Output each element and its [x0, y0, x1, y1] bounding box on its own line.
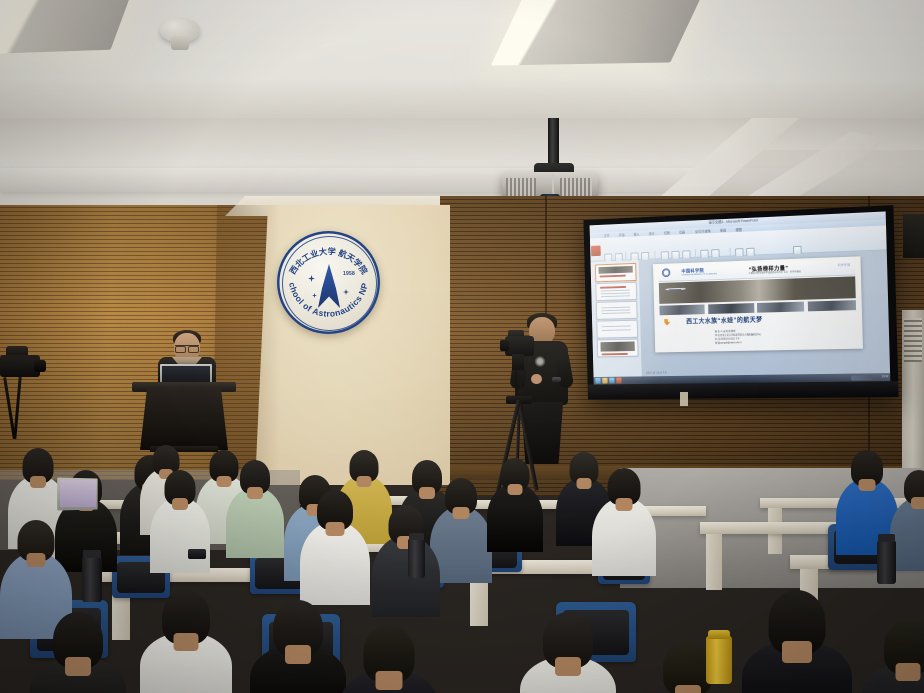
projection-screen-surface[interactable]: 演示文稿1 - Microsoft PowerPoint 文件 开始 插入 设计…	[590, 211, 891, 384]
emblem-year: 1958	[343, 271, 355, 277]
audience-laptop-screen[interactable]	[60, 480, 96, 507]
person-neck	[376, 671, 403, 690]
cameraman-shirt-graphic	[534, 356, 546, 367]
thumbnail-text-line	[602, 307, 631, 309]
person-neck	[285, 645, 311, 664]
audience-member	[862, 620, 924, 693]
strip-photo	[757, 301, 804, 312]
person-neck	[675, 685, 701, 693]
person-neck	[326, 522, 345, 536]
tumbler-bottle[interactable]	[82, 556, 102, 602]
ac-vent-icon	[904, 318, 922, 362]
slide-thumbnail[interactable]	[597, 339, 638, 358]
slide-thumbnail[interactable]	[596, 320, 637, 339]
wristwatch-icon	[552, 377, 561, 382]
audience-member	[250, 600, 346, 693]
slide-meta-email: 邮 箱:gongda@nwpu.edu.cn	[715, 341, 761, 346]
person-neck	[911, 497, 924, 509]
camera-center-tripod	[505, 336, 534, 356]
audience-member	[592, 468, 656, 596]
camera-lens	[500, 340, 509, 351]
person-neck	[508, 484, 523, 495]
projector-pole	[548, 118, 559, 168]
thumbnail-text-line	[602, 326, 631, 328]
ppt-icon[interactable]	[616, 378, 621, 383]
taskbar-clock[interactable]: 15:42	[882, 375, 888, 378]
slide-thumbnail[interactable]	[596, 301, 637, 320]
tumbler-cap	[409, 533, 424, 540]
yellow-bottle[interactable]	[706, 636, 732, 684]
slide-thumbnail[interactable]	[595, 263, 636, 282]
banner-badge-icon	[665, 288, 686, 291]
school-of-astronautics-emblem: 西北工业大学 航天学院 School of Astronautics NPU 1…	[277, 231, 380, 334]
audience-member	[340, 625, 438, 693]
thumbnail-title-bar	[602, 353, 628, 355]
person-neck	[616, 498, 633, 511]
thumbnail-image	[600, 342, 635, 352]
slide-slogan-sub: 中国科学院学部科学道德建设委员会 主办 · 科学传播局	[749, 271, 801, 276]
ppt-app-icon[interactable]	[591, 246, 601, 257]
explorer-icon[interactable]	[602, 378, 607, 383]
slide-title: 西工大水族“水娃”的航天梦	[686, 314, 763, 325]
audience-member	[30, 612, 126, 693]
person-neck	[859, 479, 876, 491]
strip-photo	[807, 300, 855, 311]
wall-dark-panel	[903, 214, 924, 258]
screen-bezel	[588, 381, 899, 400]
tumbler-bottle[interactable]	[408, 538, 425, 578]
tumbler-cap	[878, 534, 895, 542]
yellow-bottle-cap	[708, 630, 730, 639]
audience-member	[487, 458, 543, 570]
start-icon[interactable]	[595, 378, 600, 383]
person-neck	[453, 507, 470, 519]
person-neck	[896, 663, 921, 681]
thumbnail-image	[598, 266, 633, 274]
screen-stand	[680, 392, 688, 406]
slide-arrow-icon	[664, 319, 670, 326]
tumbler-bottle[interactable]	[877, 540, 896, 584]
system-tray[interactable]	[851, 375, 873, 380]
cameraman-hand	[531, 374, 542, 384]
person-neck	[65, 657, 91, 676]
audience-member	[372, 505, 440, 637]
slide-status-text: 幻灯片 第 1 张,共 5 张	[646, 371, 667, 375]
thumbnail-title-bar	[600, 275, 626, 277]
ceiling-light-panel-right	[491, 0, 703, 66]
slide-stage[interactable]: 中国科学院 CHINESE ACADEMY OF SCIENCES “弘扬榜样力…	[638, 250, 890, 376]
ceiling-light-panel-left	[0, 0, 131, 54]
slide-thumbnail[interactable]	[595, 282, 636, 301]
audience-member	[140, 590, 232, 693]
thumbnail-text-line	[601, 290, 630, 292]
thumbnail-text-line	[602, 312, 631, 314]
audience-member	[520, 612, 616, 693]
ceiling-beam-upper	[0, 82, 924, 118]
slide-metadata: 报 告 人:宋 保 维 教授 单 位:西北工业大学航海学院/无人潜航器研究中心 …	[715, 329, 762, 346]
thumbnail-text-line	[602, 329, 631, 331]
strip-photo	[708, 303, 754, 314]
thumbnail-text-line	[602, 309, 631, 311]
browser-icon[interactable]	[609, 378, 614, 383]
org-name-en: CHINESE ACADEMY OF SCIENCES	[681, 273, 717, 276]
ceiling	[0, 0, 924, 228]
audience-member	[226, 460, 284, 575]
person-neck	[30, 476, 46, 488]
person-neck	[577, 478, 592, 489]
thumbnail-text-line	[601, 295, 630, 297]
strip-photo	[660, 304, 705, 315]
thumbnail-text-line	[601, 292, 630, 294]
smoke-detector-icon	[160, 18, 200, 42]
person-neck	[27, 553, 46, 567]
person-neck	[357, 476, 372, 487]
person-neck	[555, 657, 581, 676]
phone[interactable]	[188, 549, 206, 559]
projection-screen[interactable]: 演示文稿1 - Microsoft PowerPoint 文件 开始 插入 设计…	[583, 205, 898, 399]
glasses-icon	[175, 345, 199, 351]
lecture-hall-photo: 西北工业大学 航天学院 School of Astronautics NPU 1…	[0, 0, 924, 693]
person-neck	[247, 487, 263, 499]
person-neck	[782, 641, 812, 663]
ppt-window-title: 演示文稿1 - Microsoft PowerPoint	[708, 218, 757, 225]
slide-brand-right: 科学传播	[838, 262, 851, 266]
current-slide[interactable]: 中国科学院 CHINESE ACADEMY OF SCIENCES “弘扬榜样力…	[653, 256, 864, 353]
audience-member	[150, 470, 210, 592]
projector-vents-left	[506, 178, 536, 196]
svg-text:School of Astronautics NPU: School of Astronautics NPU	[277, 231, 370, 319]
desk-leg	[706, 534, 722, 590]
slide-thumbnail-panel[interactable]	[591, 260, 643, 377]
person-neck	[172, 498, 188, 510]
cas-logo-icon	[662, 269, 670, 278]
thumbnail-title-bar	[600, 286, 626, 288]
audience-member	[742, 590, 852, 693]
podium	[140, 388, 228, 450]
tumbler-cap	[83, 550, 101, 558]
person-neck	[174, 633, 199, 651]
camera-left-lens	[34, 360, 46, 372]
